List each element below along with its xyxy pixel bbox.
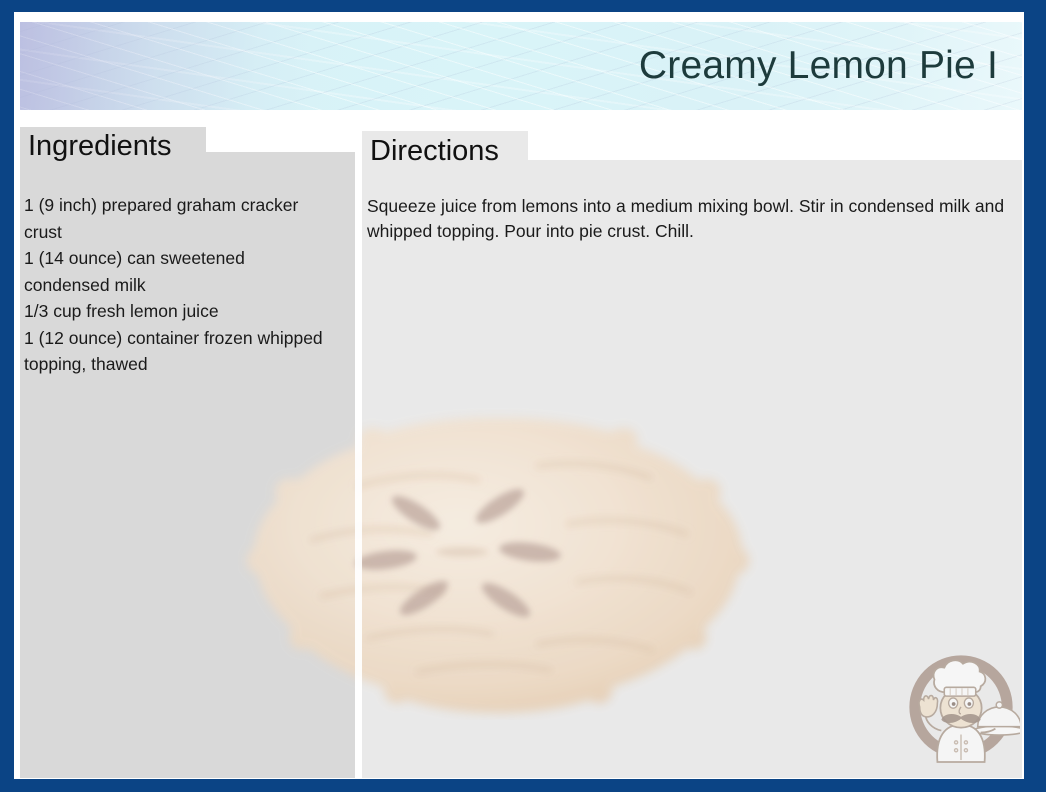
tab-directions-label: Directions xyxy=(362,135,499,168)
recipe-card-page: Creamy Lemon Pie I xyxy=(0,0,1046,792)
chef-logo xyxy=(902,646,1020,764)
header-banner: Creamy Lemon Pie I xyxy=(20,22,1022,110)
banner-lavender-tint xyxy=(20,22,320,110)
tab-ingredients-label: Ingredients xyxy=(20,130,172,163)
frame-border-right xyxy=(1024,0,1046,792)
list-item: 1 (12 ounce) container frozen whipped to… xyxy=(24,325,334,378)
tab-ingredients[interactable]: Ingredients xyxy=(20,127,206,165)
panel-divider-seam xyxy=(355,152,362,778)
ingredients-list: 1 (9 inch) prepared graham cracker crust… xyxy=(24,192,334,378)
recipe-title: Creamy Lemon Pie I xyxy=(639,44,998,88)
directions-text: Squeeze juice from lemons into a medium … xyxy=(367,194,1007,244)
frame-border-top xyxy=(0,0,1046,12)
list-item: 1/3 cup fresh lemon juice xyxy=(24,298,334,325)
frame-border-left xyxy=(0,0,14,792)
frame-border-bottom xyxy=(0,779,1046,792)
list-item: 1 (14 ounce) can sweetened condensed mil… xyxy=(24,245,334,298)
list-item: 1 (9 inch) prepared graham cracker crust xyxy=(24,192,334,245)
pie-illustration xyxy=(238,400,758,720)
tab-directions[interactable]: Directions xyxy=(362,131,528,171)
